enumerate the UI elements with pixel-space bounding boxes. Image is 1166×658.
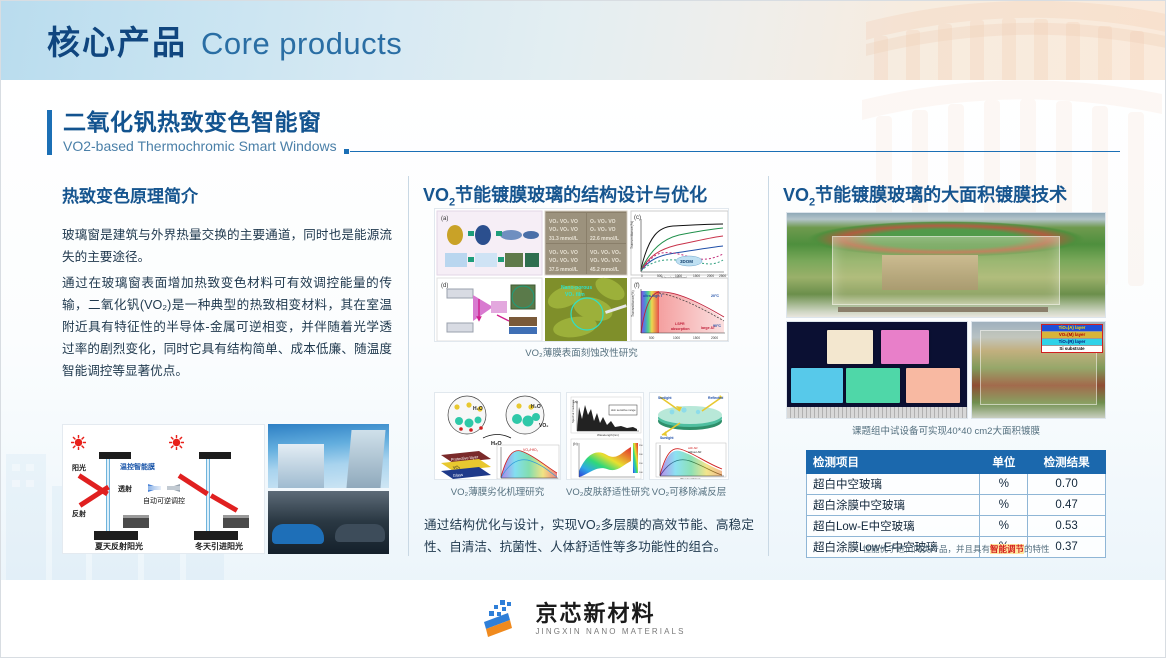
thermochromic-window-diagram: 阳光 温控智能膜 透射 反射 夏天反射阳光 自动可逆调控 冬天引进阳光 (62, 424, 265, 554)
svg-text:large ∆T: large ∆T (701, 326, 716, 330)
figure-caption-top: VO₂薄膜表面刻蚀改性研究 (434, 345, 729, 359)
figure-caption-b3: VO₂可移除减反层 (649, 484, 729, 498)
figure-ar-layer-graphic: Sunlight Reflected Sunlight with AR with… (650, 393, 729, 480)
section-title-en: VO2-based Thermochromic Smart Windows (63, 137, 337, 156)
svg-text:1500: 1500 (693, 336, 700, 340)
cell-item: 超白Low-E中空玻璃 (807, 516, 980, 537)
left-photo-stack (268, 424, 389, 554)
sample-tile-cream (827, 330, 874, 365)
svg-text:1000: 1000 (675, 274, 682, 278)
cell-item: 超白涂膜中空玻璃 (807, 495, 980, 516)
svg-text:45.2 mmol/L: 45.2 mmol/L (590, 267, 619, 273)
svg-text:Transmittance(%): Transmittance(%) (631, 290, 635, 317)
slide-header: 核心产品 Core products (0, 0, 1166, 80)
svg-text:VO₂: VO₂ (539, 423, 548, 429)
logo-text-block: 京芯新材料 JINGXIN NANO MATERIALS (535, 603, 685, 636)
svg-text:500: 500 (657, 274, 663, 278)
figure-etching-research: (a) (b) (434, 208, 729, 342)
svg-text:absorption: absorption (671, 327, 690, 331)
figure-caption-b1: VO₂薄膜劣化机理研究 (434, 484, 561, 498)
company-logo: 京芯新材料 JINGXIN NANO MATERIALS (480, 600, 685, 638)
film-stack-diagram: TiO₂(A) layer VO₂(M) layer TiO₂(R) layer… (1041, 324, 1103, 353)
scale-ruler (787, 407, 967, 418)
sun-icon-summer (71, 435, 86, 450)
figure-degradation-mechanism: H₂O H₂O VO₂ H₂O Protective layer VO₂ Gla… (434, 392, 561, 480)
figure-etching-graphic: (a) (b) (435, 209, 729, 342)
summer-floor (94, 531, 138, 540)
svg-text:Reflected: Reflected (708, 396, 723, 400)
layer-vo2-m: VO₂(M) layer (1042, 332, 1102, 339)
footnote-before: 性能优于进口同类产品，并且具有 (862, 544, 990, 554)
left-paragraph-1: 玻璃窗是建筑与外界热量交换的主要通道，同时也是能源流失的主要途径。 (62, 224, 392, 268)
svg-text:Wavelength(nm): Wavelength(nm) (597, 433, 619, 437)
table-footnote: 性能优于进口同类产品，并且具有智能调节的特性 (806, 543, 1106, 555)
cell-unit: % (980, 495, 1028, 516)
caption-winter: 冬天引进阳光 (195, 541, 243, 552)
svg-text:(a): (a) (441, 216, 448, 222)
layer-tio2-a: TiO₂(A) layer (1042, 325, 1102, 332)
column-divider-1 (408, 176, 409, 556)
table-row: 超白中空玻璃 % 0.70 (807, 474, 1106, 495)
right-photo-caption: 课题组中试设备可实现40*40 cm2大面积镀膜 (786, 423, 1106, 437)
sample-tile-cyan (791, 368, 843, 403)
logo-text-cn: 京芯新材料 (535, 603, 685, 625)
logo-text-en: JINGXIN NANO MATERIALS (535, 628, 685, 636)
slide-root: 核心产品 Core products (0, 0, 1166, 658)
svg-text:2000: 2000 (711, 336, 718, 340)
middle-heading-rest: 节能镀膜玻璃的结构设计与优化 (455, 185, 707, 205)
table-header-result: 检测结果 (1028, 451, 1106, 474)
figure-skin-comfort-graphic: skin sensitive range Wavelength(nm) Spec… (567, 393, 644, 480)
svg-text:(f): (f) (634, 283, 640, 289)
sample-tile-green (846, 368, 900, 403)
svg-text:22.6 mmol/L: 22.6 mmol/L (590, 236, 619, 242)
test-results-table-wrapper: 检测项目 单位 检测结果 超白中空玻璃 % 0.70 超白涂膜中空玻璃 % 0.… (806, 450, 1106, 558)
photo-large-area-coated-glass (786, 212, 1106, 318)
cell-result: 0.70 (1028, 474, 1106, 495)
svg-text:Transmittance(%): Transmittance(%) (630, 221, 634, 249)
test-results-table: 检测项目 单位 检测结果 超白中空玻璃 % 0.70 超白涂膜中空玻璃 % 0.… (806, 450, 1106, 558)
figure-skin-comfort: skin sensitive range Wavelength(nm) Spec… (566, 392, 644, 480)
svg-text:Wavelength(nm): Wavelength(nm) (680, 477, 700, 480)
section-title-rule (350, 151, 1120, 152)
svg-text:Glass: Glass (453, 472, 464, 478)
photo-glass-curtain-building (268, 424, 389, 488)
summer-furniture (123, 515, 149, 528)
svg-text:(b): (b) (573, 441, 579, 446)
svg-text:VO₂ film: VO₂ film (565, 292, 585, 298)
glass-support-bar (838, 307, 1048, 312)
label-smart-film: 温控智能膜 (120, 462, 155, 472)
svg-text:31.3 mmol/L: 31.3 mmol/L (549, 236, 578, 242)
header-title-en: Core products (201, 26, 402, 62)
right-heading-rest: 节能镀膜玻璃的大面积镀膜技术 (815, 185, 1067, 205)
figure-caption-b2: VO₂皮肤舒适性研究 (566, 484, 644, 498)
svg-text:2500: 2500 (719, 274, 726, 278)
svg-text:Sunlight: Sunlight (658, 396, 672, 400)
svg-text:(d): (d) (441, 283, 448, 289)
svg-text:VO₂ VO₂ VO: VO₂ VO₂ VO (549, 227, 578, 233)
figure-degradation-graphic: H₂O H₂O VO₂ H₂O Protective layer VO₂ Gla… (435, 393, 561, 480)
svg-text:VO₂ VO₂ VO: VO₂ VO₂ VO (549, 219, 578, 225)
figure-removable-ar-layer: Sunlight Reflected Sunlight with AR with… (649, 392, 729, 480)
svg-text:VO₂ VO₂ VO₂: VO₂ VO₂ VO₂ (590, 250, 621, 256)
reversible-arrows-icon (142, 482, 186, 494)
caption-summer: 夏天反射阳光 (95, 541, 143, 552)
middle-heading-prefix: VO (423, 185, 449, 205)
tile-backdrop (787, 322, 967, 418)
photo-coated-glass-with-stack: TiO₂(A) layer VO₂(M) layer TiO₂(R) layer… (971, 321, 1106, 419)
left-column-heading: 热致变色原理简介 (62, 182, 198, 207)
layer-tio2-r: TiO₂(R) layer (1042, 339, 1102, 346)
table-row: 超白Low-E中空玻璃 % 0.53 (807, 516, 1106, 537)
header-title-cn: 核心产品 (47, 16, 187, 64)
footnote-after: 的特性 (1024, 544, 1050, 554)
svg-text:1500: 1500 (693, 274, 700, 278)
sample-tile-peach (906, 368, 960, 403)
section-title-cn: 二氧化钒热致变色智能窗 (63, 107, 337, 137)
sun-icon-winter (169, 435, 184, 450)
svg-text:VO₂: VO₂ (453, 464, 461, 470)
layer-si-substrate: Si substrate (1042, 346, 1102, 352)
svg-text:VO₂ VO₂ VO: VO₂ VO₂ VO (549, 258, 578, 264)
svg-text:1000: 1000 (673, 336, 680, 340)
winter-transmitted-ray (210, 493, 238, 512)
svg-text:VO₂ VO₂ VO₂: VO₂ VO₂ VO₂ (590, 258, 621, 264)
svg-text:0: 0 (641, 274, 643, 278)
svg-text:LSPR: LSPR (675, 322, 685, 326)
header-title: 核心产品 Core products (47, 16, 402, 64)
cell-result: 0.53 (1028, 516, 1106, 537)
label-transmission: 透射 (118, 484, 132, 494)
svg-text:Sunlight: Sunlight (660, 436, 674, 440)
cell-unit: % (980, 516, 1028, 537)
svg-text:Wavelength (nm): Wavelength (nm) (519, 479, 542, 480)
section-accent-bar (47, 110, 52, 155)
winter-furniture (223, 515, 249, 528)
table-row: 超白涂膜中空玻璃 % 0.47 (807, 495, 1106, 516)
winter-floor (194, 531, 238, 540)
table-header-item: 检测项目 (807, 451, 980, 474)
svg-text:skin sensitive range: skin sensitive range (611, 408, 636, 412)
svg-text:3DOM: 3DOM (680, 259, 693, 264)
right-column-heading: VO2节能镀膜玻璃的大面积镀膜技术 (783, 181, 1067, 209)
left-illustration-group: 阳光 温控智能膜 透射 反射 夏天反射阳光 自动可逆调控 冬天引进阳光 (62, 424, 389, 554)
svg-text:O₂ VO₂ VO: O₂ VO₂ VO (590, 227, 616, 233)
svg-text:20°C: 20°C (711, 294, 719, 298)
coated-glass-overlay (832, 236, 1061, 305)
svg-text:H₂O: H₂O (473, 406, 483, 412)
winter-roof (199, 452, 231, 459)
svg-text:Nano-porous: Nano-porous (561, 285, 592, 291)
summer-roof (99, 452, 131, 459)
svg-text:(c): (c) (634, 215, 641, 221)
label-reflection: 反射 (72, 509, 86, 519)
classical-building-watermark-icon (866, 0, 1166, 80)
svg-text:(a): (a) (573, 399, 579, 404)
svg-text:H₂O: H₂O (531, 404, 541, 410)
svg-text:500: 500 (649, 336, 655, 340)
right-heading-prefix: VO (783, 185, 809, 205)
jingxin-logo-icon (480, 600, 526, 638)
section-title-block: 二氧化钒热致变色智能窗 VO2-based Thermochromic Smar… (47, 107, 337, 156)
svg-text:O₂ VO₂ VO: O₂ VO₂ VO (590, 219, 616, 225)
svg-text:VO₂/HfO₂: VO₂/HfO₂ (523, 448, 539, 452)
svg-text:37.5 mmol/L: 37.5 mmol/L (549, 267, 578, 273)
cell-unit: % (980, 474, 1028, 495)
svg-text:ultra-high T: ultra-high T (643, 294, 664, 298)
svg-text:2000: 2000 (707, 274, 714, 278)
sample-tile-pink (881, 330, 930, 365)
left-paragraph-2: 通过在玻璃窗表面增加热致变色材料可有效调控能量的传输，二氧化钒(VO₂)是一种典… (62, 272, 392, 382)
label-sunlight-summer: 阳光 (72, 463, 86, 473)
middle-column-heading: VO2节能镀膜玻璃的结构设计与优化 (423, 181, 707, 209)
svg-text:without AR: without AR (688, 450, 701, 454)
footnote-highlight: 智能调节 (990, 544, 1024, 554)
photo-color-sample-tiles (786, 321, 968, 419)
svg-text:VO₂ VO₂ VO: VO₂ VO₂ VO (549, 250, 578, 256)
middle-summary-text: 通过结构优化与设计，实现VO₂多层膜的高效节能、高稳定性、自清洁、抗菌性、人体舒… (424, 514, 754, 558)
label-auto-reversible: 自动可逆调控 (141, 496, 187, 506)
cell-result: 0.47 (1028, 495, 1106, 516)
column-divider-2 (768, 176, 769, 556)
photo-automotive-glass (268, 491, 389, 555)
table-header-row: 检测项目 单位 检测结果 (807, 451, 1106, 474)
table-header-unit: 单位 (980, 451, 1028, 474)
cell-item: 超白中空玻璃 (807, 474, 980, 495)
slide-footer: 京芯新材料 JINGXIN NANO MATERIALS (0, 580, 1166, 658)
